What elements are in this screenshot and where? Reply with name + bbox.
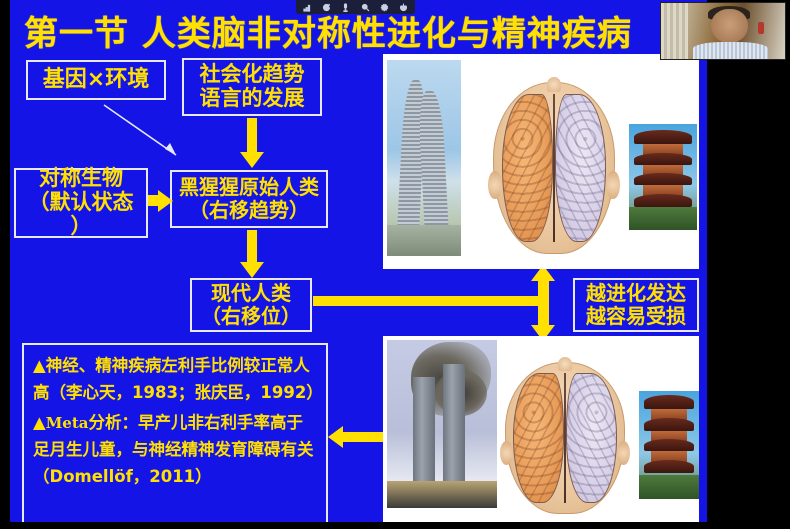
arrow-chimp-to-modern xyxy=(240,230,264,280)
arrow-gene-to-chimp-diagonal xyxy=(102,103,188,165)
flow-box-symmetric-line3: ） xyxy=(29,215,134,239)
brain-top-view-illustration xyxy=(493,82,615,254)
flow-box-symmetric-organism[interactable]: 对称生物 （默认状态 ） xyxy=(14,168,148,238)
flow-box-socialization-line2: 语言的发展 xyxy=(200,87,305,111)
notes-text-box[interactable]: ▲神经、精神疾病左利手比例较正常人高（李心天，1983；张庆臣，1992） ▲M… xyxy=(22,343,328,522)
notes-item-1-text: 神经、精神疾病左利手比例较正常人高（李心天，1983；张庆臣，1992） xyxy=(33,356,323,402)
letterbox-right xyxy=(707,0,790,529)
image-panel-bottom[interactable] xyxy=(383,336,699,522)
brain-left-hemisphere-2 xyxy=(513,373,563,504)
arrow-modern-to-brain xyxy=(313,271,575,339)
notes-item-2: ▲Meta分析：早产儿非右利手率高于足月生儿童，与神经精神发育障碍有关（Dome… xyxy=(33,410,317,490)
flow-box-evolution-vulnerability[interactable]: 越进化发达 越容易受损 xyxy=(573,278,699,332)
flow-box-chimp-line2: （右移趋势） xyxy=(179,199,319,222)
search-icon[interactable] xyxy=(360,2,371,13)
arrow-notes-inflow xyxy=(328,425,390,449)
pagoda-photo-2 xyxy=(639,391,699,499)
bullet-triangle-icon: ▲ xyxy=(33,356,46,375)
flow-box-modern-human[interactable]: 现代人类 （右移位） xyxy=(190,278,312,332)
image-panel-top[interactable] xyxy=(383,54,699,269)
notes-item-2-label: Meta xyxy=(46,414,89,432)
signal-bars-icon[interactable] xyxy=(302,2,313,13)
brain-right-hemisphere-2 xyxy=(566,373,616,504)
system-toolbar[interactable] xyxy=(296,0,415,14)
pagoda-photo xyxy=(629,124,697,230)
letterbox-left xyxy=(0,0,10,529)
presentation-slide[interactable]: 第一节 人类脑非对称性进化与精神疾病 基因×环境 社会化趋势 语言的发展 对称生… xyxy=(10,0,707,522)
flow-box-gene-label: 基因×环境 xyxy=(43,67,149,92)
flow-box-gene-environment[interactable]: 基因×环境 xyxy=(26,60,166,100)
brain-right-hemisphere xyxy=(555,94,606,242)
brain-top-view-illustration-2 xyxy=(505,362,625,514)
bullet-triangle-icon-2: ▲ xyxy=(33,413,46,432)
notes-item-1: ▲神经、精神疾病左利手比例较正常人高（李心天，1983；张庆臣，1992） xyxy=(33,353,317,406)
power-icon[interactable] xyxy=(398,2,409,13)
brain-left-hemisphere xyxy=(502,94,553,242)
flow-box-symmetric-line1: 对称生物 xyxy=(29,167,134,191)
letterbox-bottom xyxy=(0,522,790,529)
arrow-social-to-chimp xyxy=(240,118,264,168)
flow-box-socialization-line1: 社会化趋势 xyxy=(200,63,305,87)
flow-box-socialization[interactable]: 社会化趋势 语言的发展 xyxy=(182,58,322,116)
flow-box-chimpanzee-early-human[interactable]: 黑猩猩原始人类 （右移趋势） xyxy=(170,170,328,228)
flow-box-vulnerability-line1: 越进化发达 xyxy=(586,282,686,305)
flow-box-modern-line1: 现代人类 xyxy=(201,282,301,305)
skyscraper-photo xyxy=(387,60,461,256)
flow-box-vulnerability-line2: 越容易受损 xyxy=(586,305,686,328)
flow-box-modern-line2: （右移位） xyxy=(201,305,301,328)
refresh-icon[interactable] xyxy=(321,2,332,13)
burning-towers-photo xyxy=(387,340,497,508)
microphone-icon[interactable] xyxy=(340,2,351,13)
screen-root: 第一节 人类脑非对称性进化与精神疾病 基因×环境 社会化趋势 语言的发展 对称生… xyxy=(0,0,790,529)
presenter-webcam-video[interactable] xyxy=(660,2,786,60)
arrow-symmetric-to-chimp xyxy=(148,190,172,212)
gear-icon[interactable] xyxy=(379,2,390,13)
flow-box-symmetric-line2: （默认状态 xyxy=(29,191,134,215)
flow-box-chimp-line1: 黑猩猩原始人类 xyxy=(179,176,319,199)
